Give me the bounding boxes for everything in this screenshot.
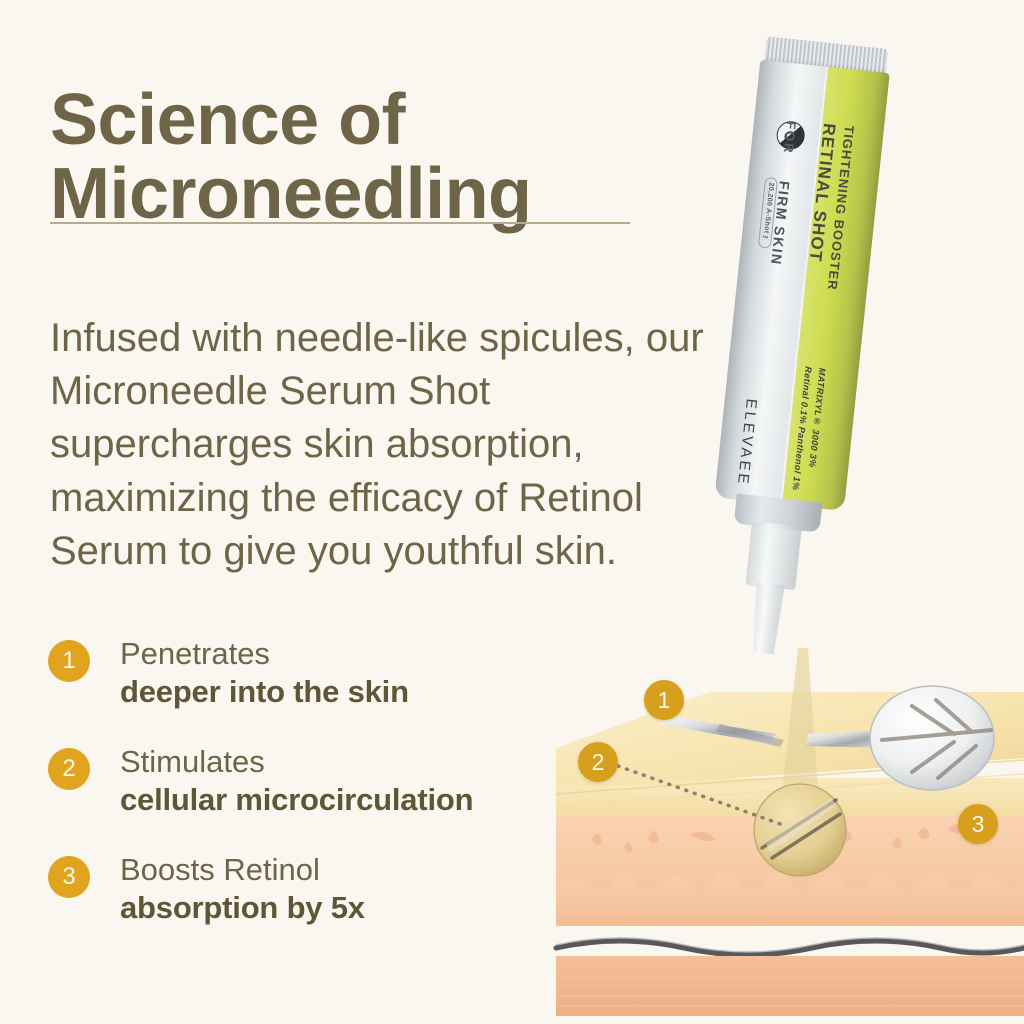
page-title-line-2: Microneedling: [50, 158, 670, 231]
spicule-magnifier-surface: [870, 686, 994, 790]
list-item: 2 Stimulates cellular microcirculation: [48, 744, 568, 820]
infographic-page: Science of Microneedling Infused with ne…: [0, 0, 1024, 1024]
page-title: Science of Microneedling: [50, 84, 670, 231]
figure-marker-1: 1: [644, 680, 684, 720]
benefit-text-bold: deeper into the skin: [120, 673, 568, 711]
list-item: 1 Penetrates deeper into the skin: [48, 636, 568, 712]
benefit-number-badge: 2: [48, 748, 90, 790]
benefit-text-regular: Boosts Retinol: [120, 852, 568, 889]
skin-cross-section-figure: 1 2 3: [540, 648, 1024, 1024]
tube-for-label: FOR: [782, 121, 798, 156]
benefit-text-regular: Penetrates: [120, 636, 568, 673]
benefits-list: 1 Penetrates deeper into the skin 2 Stim…: [48, 636, 568, 928]
figure-marker-3: 3: [958, 804, 998, 844]
figure-marker-2: 2: [578, 742, 618, 782]
benefit-number-badge: 1: [48, 640, 90, 682]
benefit-text-regular: Stimulates: [120, 744, 568, 781]
intro-paragraph: Infused with needle-like spicules, our M…: [50, 312, 710, 578]
benefit-number-badge: 3: [48, 856, 90, 898]
page-title-line-1: Science of: [50, 80, 405, 160]
tube-nozzle: [745, 521, 801, 590]
benefit-text-bold: cellular microcirculation: [120, 781, 568, 819]
tube-applicator-tip: [746, 582, 787, 655]
title-divider: [50, 222, 630, 224]
skin-diagram-svg: [540, 648, 1024, 1024]
list-item: 3 Boosts Retinol absorption by 5x: [48, 852, 568, 928]
benefit-text-bold: absorption by 5x: [120, 889, 568, 927]
product-tube-image: FOR FIRM SKIN 20,200 A-Shot ™ RETINAL SH…: [684, 34, 938, 670]
tube-brand-name: ELEVAEE: [735, 398, 759, 487]
spicule-magnifier-dermis: [754, 784, 846, 876]
tube-body: FOR FIRM SKIN 20,200 A-Shot ™ RETINAL SH…: [714, 60, 889, 511]
